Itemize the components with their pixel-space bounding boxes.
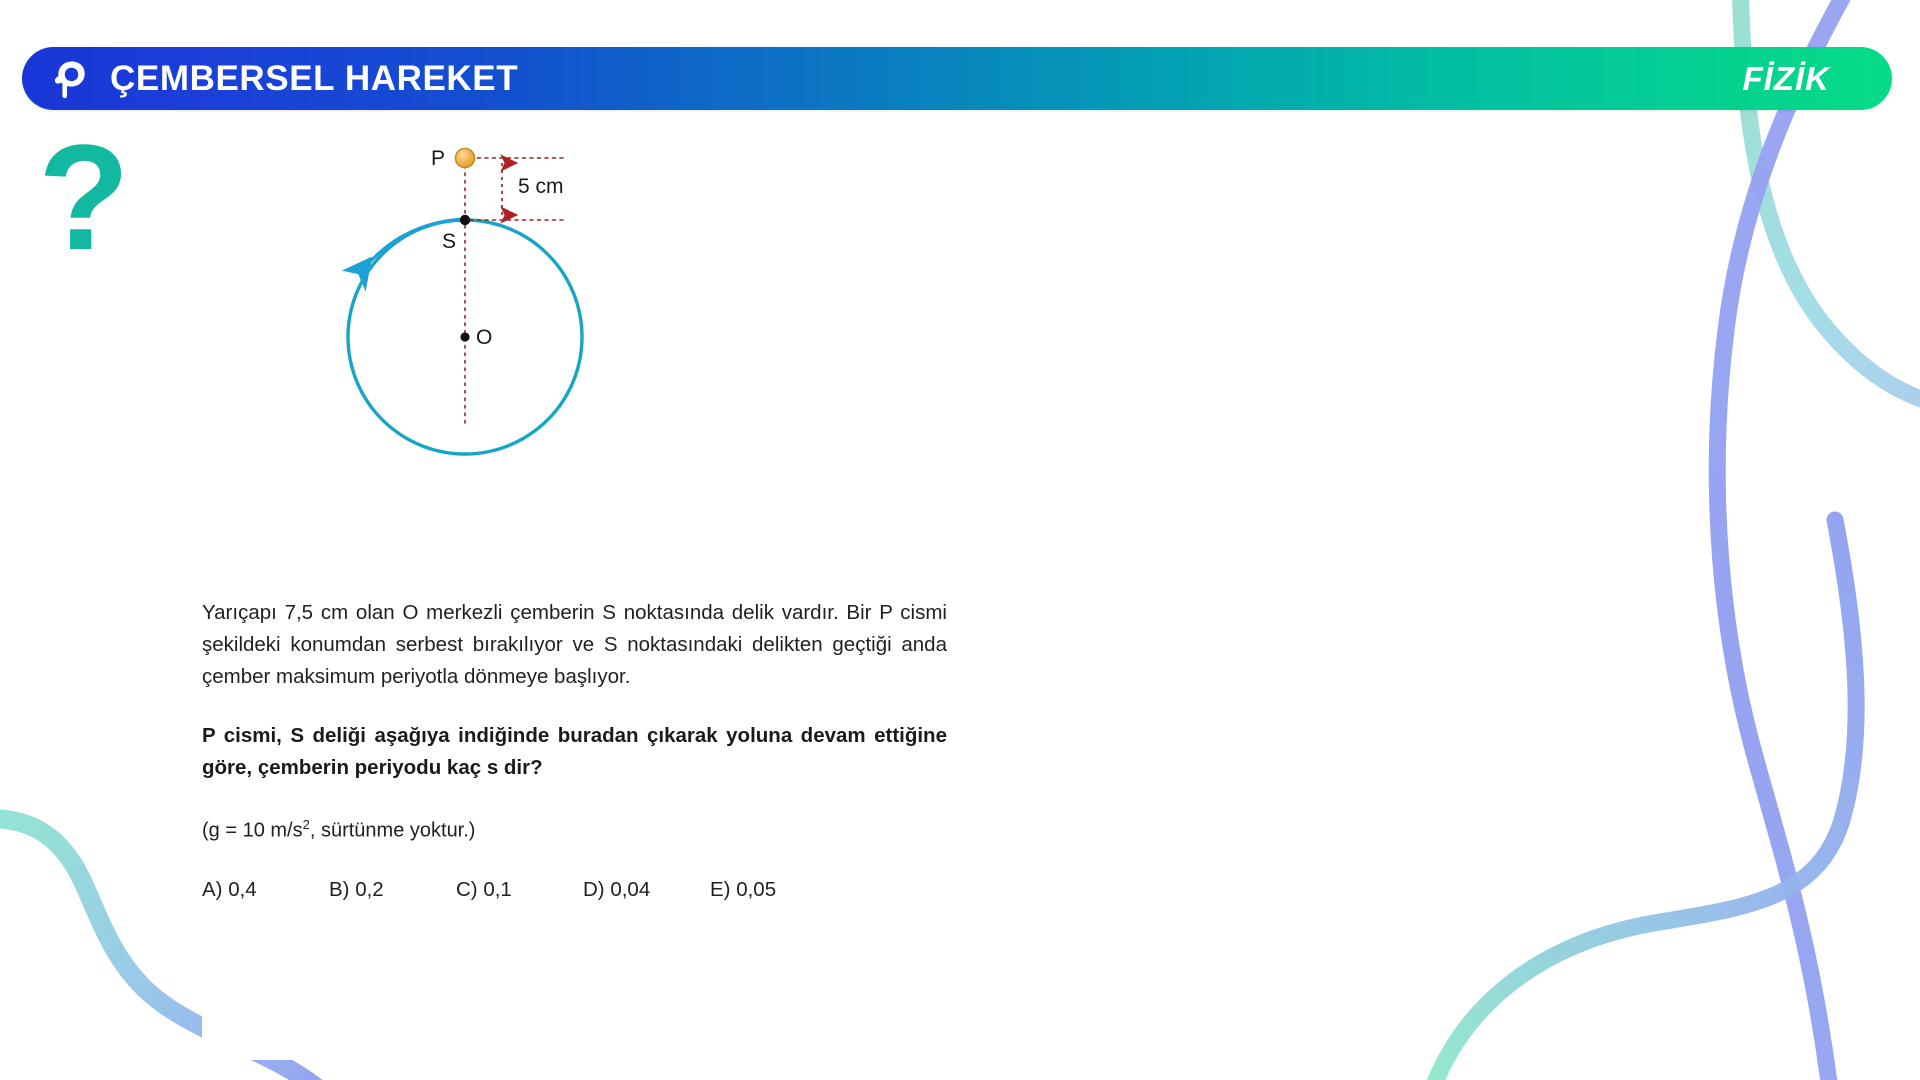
label-s: S <box>442 230 456 253</box>
page-root: ÇEMBERSEL HAREKET FİZİK ? <box>0 0 1920 1080</box>
question-prompt: P cismi, S deliği aşağıya indiğinde bura… <box>202 720 947 784</box>
question-mark-icon: ? <box>38 122 130 272</box>
point-o-dot <box>460 332 469 341</box>
question-card: P S O 5 cm Yarıçapı 7,5 cm olan O merkez… <box>202 130 947 1060</box>
physics-figure: P S O 5 cm <box>202 130 947 585</box>
option-e[interactable]: E) 0,05 <box>710 878 776 902</box>
option-c[interactable]: C) 0,1 <box>456 878 583 902</box>
point-s-dot <box>460 215 470 225</box>
option-b[interactable]: B) 0,2 <box>329 878 456 902</box>
p-logo-icon <box>46 56 92 102</box>
given-note-suffix: , sürtünme yoktur.) <box>310 820 476 842</box>
decor-curve-purple-top-right <box>1717 0 1852 1080</box>
label-o: O <box>476 326 492 349</box>
figure-svg: P S O 5 cm <box>202 130 947 585</box>
option-a[interactable]: A) 0,4 <box>202 878 329 902</box>
given-note-prefix: (g = 10 m/s <box>202 820 303 842</box>
body-p-ball <box>456 149 475 168</box>
given-note-exponent: 2 <box>303 817 310 832</box>
decor-curve-bottom-right <box>1432 520 1856 1080</box>
label-dimension: 5 cm <box>518 175 564 198</box>
page-title: ÇEMBERSEL HAREKET <box>110 59 518 99</box>
option-d[interactable]: D) 0,04 <box>583 878 710 902</box>
header-banner: ÇEMBERSEL HAREKET FİZİK <box>22 47 1892 110</box>
label-p: P <box>431 147 445 170</box>
given-note: (g = 10 m/s2, sürtünme yoktur.) <box>202 810 947 846</box>
subject-badge: FİZİK <box>1743 60 1830 98</box>
answer-options: A) 0,4 B) 0,2 C) 0,1 D) 0,04 E) 0,05 <box>202 878 947 902</box>
question-statement: Yarıçapı 7,5 cm olan O merkezli çemberin… <box>202 597 947 693</box>
